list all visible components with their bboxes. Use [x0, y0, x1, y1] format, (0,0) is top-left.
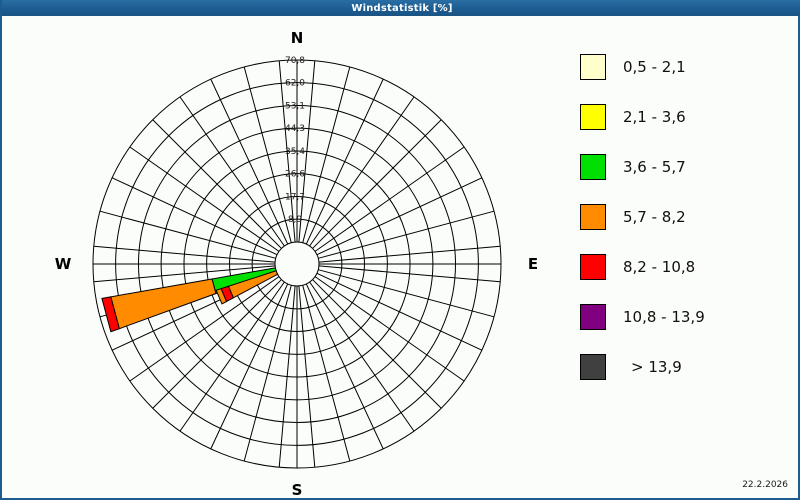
legend-label-1: 2,1 - 3,6	[623, 108, 686, 126]
radial-tick-labels: 8,917,726,635,444,353,162,070,8	[285, 56, 305, 225]
cardinal-east: E	[528, 255, 538, 273]
grid-spoke-19	[244, 285, 291, 461]
radial-tick-7: 70,8	[285, 56, 305, 66]
polar-grid	[93, 60, 501, 468]
legend-item: 5,7 - 8,2	[580, 192, 790, 242]
grid-spoke-16	[303, 285, 350, 461]
legend-label-3: 5,7 - 8,2	[623, 208, 686, 226]
legend-label-6: > 13,9	[631, 358, 682, 376]
radial-tick-5: 53,1	[285, 102, 305, 112]
legend-item: 3,6 - 5,7	[580, 142, 790, 192]
grid-spoke-4	[313, 120, 442, 249]
legend-swatch-4	[580, 254, 606, 280]
radial-tick-0: 8,9	[288, 215, 303, 225]
grid-spoke-1	[303, 67, 350, 243]
legend-label-2: 3,6 - 5,7	[623, 158, 686, 176]
legend-swatch-2	[580, 154, 606, 180]
radial-tick-2: 26,6	[285, 170, 305, 180]
window-titlebar: Windstatistik [%]	[2, 0, 800, 16]
legend-item: > 13,9	[580, 342, 790, 392]
radial-tick-4: 44,3	[285, 124, 305, 134]
cardinal-south: S	[292, 481, 303, 496]
grid-spoke-31	[153, 120, 282, 249]
legend-swatch-5	[580, 304, 606, 330]
legend-item: 8,2 - 10,8	[580, 242, 790, 292]
radial-tick-1: 17,7	[285, 193, 305, 203]
grid-spoke-7	[318, 211, 494, 258]
grid-spoke-33	[211, 79, 288, 244]
date-stamp: 22.2.2026	[742, 480, 788, 490]
radial-tick-3: 35,4	[285, 147, 305, 157]
cardinal-west: W	[55, 255, 72, 273]
windstatistik-window: Windstatistik [%] 8,917,726,635,444,353,…	[0, 0, 800, 500]
grid-spoke-2	[306, 79, 383, 244]
grid-spoke-11	[317, 273, 482, 350]
legend-label-0: 0,5 - 2,1	[623, 58, 686, 76]
grid-spoke-20	[211, 284, 288, 449]
calm-circle	[275, 242, 319, 286]
grid-spoke-10	[318, 270, 494, 317]
legend-label-5: 10,8 - 13,9	[623, 308, 705, 326]
wind-rose-petals	[102, 268, 278, 332]
radial-tick-6: 62,0	[285, 79, 305, 89]
legend-swatch-0	[580, 54, 606, 80]
legend-item: 2,1 - 3,6	[580, 92, 790, 142]
grid-spoke-15	[306, 284, 383, 449]
chart-canvas: 8,917,726,635,444,353,162,070,8 N S W E …	[2, 16, 798, 496]
grid-spoke-28	[100, 211, 276, 258]
grid-spoke-29	[112, 178, 277, 255]
legend-label-4: 8,2 - 10,8	[623, 258, 695, 276]
grid-spoke-6	[317, 178, 482, 255]
legend-swatch-6	[580, 354, 606, 380]
legend-swatch-1	[580, 104, 606, 130]
legend-item: 0,5 - 2,1	[580, 42, 790, 92]
cardinal-north: N	[291, 29, 304, 47]
grid-spoke-13	[313, 280, 442, 409]
legend-item: 10,8 - 13,9	[580, 292, 790, 342]
legend-swatch-3	[580, 204, 606, 230]
window-title: Windstatistik [%]	[351, 3, 452, 14]
speed-bin-legend: 0,5 - 2,1 2,1 - 3,6 3,6 - 5,7 5,7 - 8,2 …	[580, 42, 790, 392]
